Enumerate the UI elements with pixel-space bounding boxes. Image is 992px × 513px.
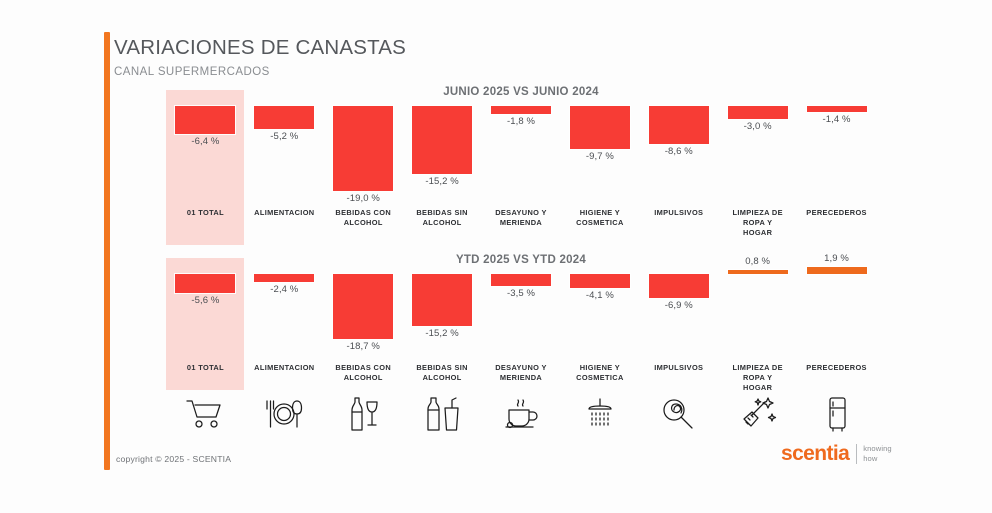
bar-negative[interactable] xyxy=(333,106,393,191)
category-label: PERECEDEROS xyxy=(799,363,874,373)
chart-column: -19,0 %BEBIDAS CONALCOHOL xyxy=(324,90,403,245)
bar-negative[interactable] xyxy=(175,106,235,134)
bar-value-label: -8,6 % xyxy=(639,146,718,157)
category-label: BEBIDAS CONALCOHOL xyxy=(326,363,401,383)
category-label: LIMPIEZA DE ROPA YHOGAR xyxy=(720,208,795,238)
chart-column: -4,1 %HIGIENE YCOSMETICA xyxy=(560,258,639,390)
category-label-line: BEBIDAS CON xyxy=(326,208,401,218)
category-label-line: ALCOHOL xyxy=(326,373,401,383)
bar-value-label: -6,4 % xyxy=(166,136,245,147)
bar-negative[interactable] xyxy=(491,274,551,286)
logo-tagline-line2: how xyxy=(863,454,892,463)
category-label-line: MERIENDA xyxy=(484,373,559,383)
chart-column: -18,7 %BEBIDAS CONALCOHOL xyxy=(324,258,403,390)
bar-negative[interactable] xyxy=(649,106,709,144)
fridge-icon xyxy=(797,392,876,436)
coffee-cup-icon xyxy=(482,392,561,436)
logo-wordmark: scentia xyxy=(781,443,849,464)
bar-negative[interactable] xyxy=(254,106,314,129)
category-label-line: BEBIDAS SIN xyxy=(405,208,480,218)
category-label: LIMPIEZA DE ROPA YHOGAR xyxy=(720,363,795,393)
category-label-line: ALIMENTACION xyxy=(247,363,322,373)
category-label: PERECEDEROS xyxy=(799,208,874,218)
chart-columns-ytd: -5,6 %01 TOTAL-2,4 %ALIMENTACION-18,7 %B… xyxy=(166,258,876,390)
bar-value-label: -3,0 % xyxy=(718,121,797,132)
category-label-line: ALCOHOL xyxy=(405,218,480,228)
category-label: BEBIDAS SINALCOHOL xyxy=(405,208,480,228)
category-label: HIGIENE YCOSMETICA xyxy=(562,208,637,228)
chart-ytd: YTD 2025 VS YTD 2024 -5,6 %01 TOTAL-2,4 … xyxy=(166,258,876,390)
bar-value-label: -5,2 % xyxy=(245,131,324,142)
bar-value-label: -2,4 % xyxy=(245,284,324,295)
chart-column: 1,9 %PERECEDEROS xyxy=(797,258,876,390)
category-label-line: BEBIDAS CON xyxy=(326,363,401,373)
bar-value-label: -15,2 % xyxy=(403,328,482,339)
bar-negative[interactable] xyxy=(333,274,393,339)
chart-column: -15,2 %BEBIDAS SINALCOHOL xyxy=(403,90,482,245)
category-label-line: LIMPIEZA DE ROPA Y xyxy=(720,208,795,228)
bar-negative[interactable] xyxy=(570,106,630,149)
category-label: IMPULSIVOS xyxy=(641,208,716,218)
chart-junio: JUNIO 2025 VS JUNIO 2024 -6,4 %01 TOTAL-… xyxy=(166,90,876,245)
bar-value-label: -5,6 % xyxy=(166,295,245,306)
lollipop-icon xyxy=(639,392,718,436)
category-label-line: 01 TOTAL xyxy=(168,208,243,218)
category-label-line: COSMETICA xyxy=(562,218,637,228)
broom-sparkle-icon xyxy=(718,392,797,436)
category-label: 01 TOTAL xyxy=(168,363,243,373)
chart-column: -2,4 %ALIMENTACION xyxy=(245,258,324,390)
bar-positive[interactable] xyxy=(728,270,788,274)
page-header: VARIACIONES DE CANASTAS CANAL SUPERMERCA… xyxy=(114,36,634,78)
category-label: 01 TOTAL xyxy=(168,208,243,218)
accent-rail xyxy=(104,32,110,470)
chart-column: -1,4 %PERECEDEROS xyxy=(797,90,876,245)
bar-negative[interactable] xyxy=(649,274,709,298)
chart-column: -15,2 %BEBIDAS SINALCOHOL xyxy=(403,258,482,390)
chart-column: -8,6 %IMPULSIVOS xyxy=(639,90,718,245)
category-label-line: DESAYUNO Y xyxy=(484,363,559,373)
bar-negative[interactable] xyxy=(570,274,630,288)
category-label-line: 01 TOTAL xyxy=(168,363,243,373)
category-label-line: PERECEDEROS xyxy=(799,208,874,218)
chart-column: -3,5 %DESAYUNO YMERIENDA xyxy=(482,258,561,390)
bar-value-label: -4,1 % xyxy=(560,290,639,301)
bar-negative[interactable] xyxy=(412,106,472,174)
chart-column: -5,6 %01 TOTAL xyxy=(166,258,245,390)
bar-value-label: -15,2 % xyxy=(403,176,482,187)
category-label-line: IMPULSIVOS xyxy=(641,208,716,218)
slide-root: VARIACIONES DE CANASTAS CANAL SUPERMERCA… xyxy=(0,0,992,513)
bar-value-label: -9,7 % xyxy=(560,151,639,162)
bottle-soda-cup-icon xyxy=(403,392,482,436)
category-label-line: ALCOHOL xyxy=(326,218,401,228)
shower-icon xyxy=(560,392,639,436)
category-label: BEBIDAS CONALCOHOL xyxy=(326,208,401,228)
chart-column: -6,9 %IMPULSIVOS xyxy=(639,258,718,390)
logo-tagline-line1: knowing xyxy=(863,444,892,453)
copyright-text: copyright © 2025 - SCENTIA xyxy=(116,454,231,464)
bar-value-label: -1,4 % xyxy=(797,114,876,125)
bar-negative[interactable] xyxy=(175,274,235,293)
category-label-line: COSMETICA xyxy=(562,373,637,383)
bar-value-label: -6,9 % xyxy=(639,300,718,311)
category-label: IMPULSIVOS xyxy=(641,363,716,373)
category-label-line: ALIMENTACION xyxy=(247,208,322,218)
plate-cutlery-icon xyxy=(245,392,324,436)
category-label: BEBIDAS SINALCOHOL xyxy=(405,363,480,383)
category-label-line: HIGIENE Y xyxy=(562,363,637,373)
bar-negative[interactable] xyxy=(412,274,472,326)
chart-columns-junio: -6,4 %01 TOTAL-5,2 %ALIMENTACION-19,0 %B… xyxy=(166,90,876,245)
category-icon-strip xyxy=(166,392,876,436)
scentia-logo: scentia knowing how xyxy=(781,443,892,464)
bar-negative[interactable] xyxy=(254,274,314,282)
chart-column: -3,0 %LIMPIEZA DE ROPA YHOGAR xyxy=(718,90,797,245)
chart-column: -5,2 %ALIMENTACION xyxy=(245,90,324,245)
chart-column: -9,7 %HIGIENE YCOSMETICA xyxy=(560,90,639,245)
category-label: ALIMENTACION xyxy=(247,208,322,218)
category-label: ALIMENTACION xyxy=(247,363,322,373)
bar-negative[interactable] xyxy=(807,106,867,112)
logo-divider xyxy=(856,444,857,464)
category-label-line: ALCOHOL xyxy=(405,373,480,383)
bar-positive[interactable] xyxy=(807,267,867,274)
category-label-line: HIGIENE Y xyxy=(562,208,637,218)
bar-value-label: 1,9 % xyxy=(797,253,876,264)
bottle-wineglass-icon xyxy=(324,392,403,436)
shopping-cart-icon xyxy=(166,392,245,436)
category-label-line: MERIENDA xyxy=(484,218,559,228)
bar-negative[interactable] xyxy=(491,106,551,114)
bar-value-label: -18,7 % xyxy=(324,341,403,352)
category-label-line: BEBIDAS SIN xyxy=(405,363,480,373)
bar-value-label: 0,8 % xyxy=(718,256,797,267)
bar-value-label: -19,0 % xyxy=(324,193,403,204)
chart-column: 0,8 %LIMPIEZA DE ROPA YHOGAR xyxy=(718,258,797,390)
charts-panel: JUNIO 2025 VS JUNIO 2024 -6,4 %01 TOTAL-… xyxy=(166,90,876,390)
bar-value-label: -1,8 % xyxy=(482,116,561,127)
category-label: HIGIENE YCOSMETICA xyxy=(562,363,637,383)
category-label-line: IMPULSIVOS xyxy=(641,363,716,373)
category-label: DESAYUNO YMERIENDA xyxy=(484,208,559,228)
category-label: DESAYUNO YMERIENDA xyxy=(484,363,559,383)
chart-column: -1,8 %DESAYUNO YMERIENDA xyxy=(482,90,561,245)
category-label-line: DESAYUNO Y xyxy=(484,208,559,218)
page-title: VARIACIONES DE CANASTAS xyxy=(114,36,634,60)
category-label-line: PERECEDEROS xyxy=(799,363,874,373)
category-label-line: HOGAR xyxy=(720,228,795,238)
category-label-line: LIMPIEZA DE ROPA Y xyxy=(720,363,795,383)
page-subtitle: CANAL SUPERMERCADOS xyxy=(114,66,634,78)
bar-negative[interactable] xyxy=(728,106,788,119)
chart-column: -6,4 %01 TOTAL xyxy=(166,90,245,245)
bar-value-label: -3,5 % xyxy=(482,288,561,299)
